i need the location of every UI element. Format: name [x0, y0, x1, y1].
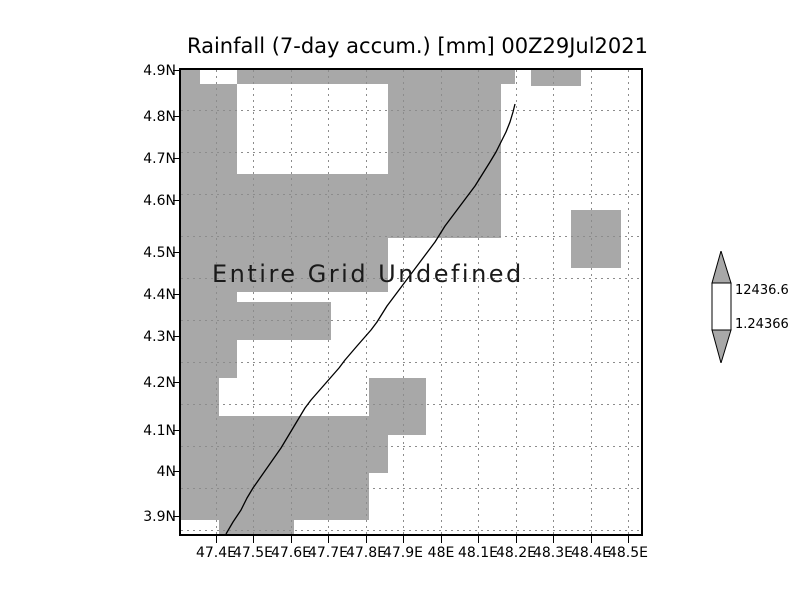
y-tick-label: 4.7N — [134, 151, 176, 167]
y-tick-label: 4.4N — [134, 287, 176, 303]
x-axis-tick — [328, 536, 329, 543]
y-tick-label: 3.9N — [134, 509, 176, 525]
map-plot-area[interactable]: Entire Grid Undefined — [181, 70, 641, 534]
y-axis-tick — [173, 471, 180, 472]
y-axis-tick — [173, 252, 180, 253]
x-axis-tick — [441, 536, 442, 543]
x-axis-tick — [553, 536, 554, 543]
x-axis-tick — [366, 536, 367, 543]
colorbar-mid-band — [712, 283, 731, 330]
y-axis-tick — [173, 70, 180, 71]
coastline-path — [226, 104, 515, 534]
x-axis-tick — [253, 536, 254, 543]
y-tick-label: 4.3N — [134, 329, 176, 345]
colorbar-upper-label: 12436.6 — [735, 283, 789, 298]
coastline-layer — [181, 70, 641, 534]
colorbar-lower-arrow — [712, 330, 731, 363]
y-tick-label: 4.9N — [134, 63, 176, 79]
colorbar-upper-arrow — [712, 251, 731, 283]
page-title: Rainfall (7-day accum.) [mm] 00Z29Jul202… — [145, 34, 690, 58]
y-axis-tick — [173, 116, 180, 117]
y-axis-tick — [173, 430, 180, 431]
x-tick-label: 48.5E — [604, 545, 652, 561]
y-axis-tick — [173, 200, 180, 201]
y-axis-tick — [173, 382, 180, 383]
y-axis-tick — [173, 158, 180, 159]
y-tick-label: 4.6N — [134, 193, 176, 209]
undefined-grid-annotation: Entire Grid Undefined — [212, 260, 524, 288]
x-axis-tick — [216, 536, 217, 543]
x-axis-tick — [478, 536, 479, 543]
x-axis-tick — [591, 536, 592, 543]
x-axis-tick — [403, 536, 404, 543]
y-tick-label: 4N — [134, 464, 176, 480]
y-axis-tick — [173, 336, 180, 337]
x-axis-tick — [628, 536, 629, 543]
plot-title-container: Rainfall (7-day accum.) [mm] 00Z29Jul202… — [145, 34, 690, 58]
y-tick-label: 4.2N — [134, 375, 176, 391]
y-axis-tick — [173, 294, 180, 295]
colorbar-lower-label: 1.24366 — [735, 317, 789, 332]
y-tick-label: 4.1N — [134, 423, 176, 439]
colorbar[interactable] — [710, 251, 734, 363]
x-axis-tick — [291, 536, 292, 543]
y-tick-label: 4.5N — [134, 245, 176, 261]
y-tick-label: 4.8N — [134, 109, 176, 125]
y-axis-tick — [173, 516, 180, 517]
x-axis-tick — [516, 536, 517, 543]
